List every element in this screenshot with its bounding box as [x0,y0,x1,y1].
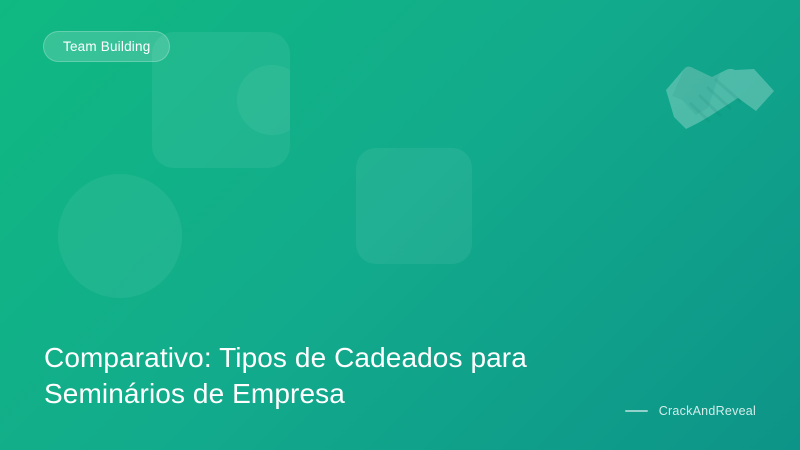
decorative-circle-left [58,174,182,298]
category-badge[interactable]: Team Building [43,31,170,62]
category-badge-label: Team Building [63,39,150,54]
handshake-icon [664,60,776,134]
slide-title: Comparativo: Tipos de Cadeados para Semi… [44,340,674,413]
decorative-rounded-square-large [152,32,290,168]
brand-divider-line [625,410,648,412]
decorative-rounded-square-small [356,148,472,264]
presentation-slide: Team Building Comparativo: Tipos de Cade… [0,0,800,450]
decorative-circle-inset [237,65,290,135]
brand-signature: CrackAndReveal [625,404,756,418]
brand-name: CrackAndReveal [659,404,756,418]
